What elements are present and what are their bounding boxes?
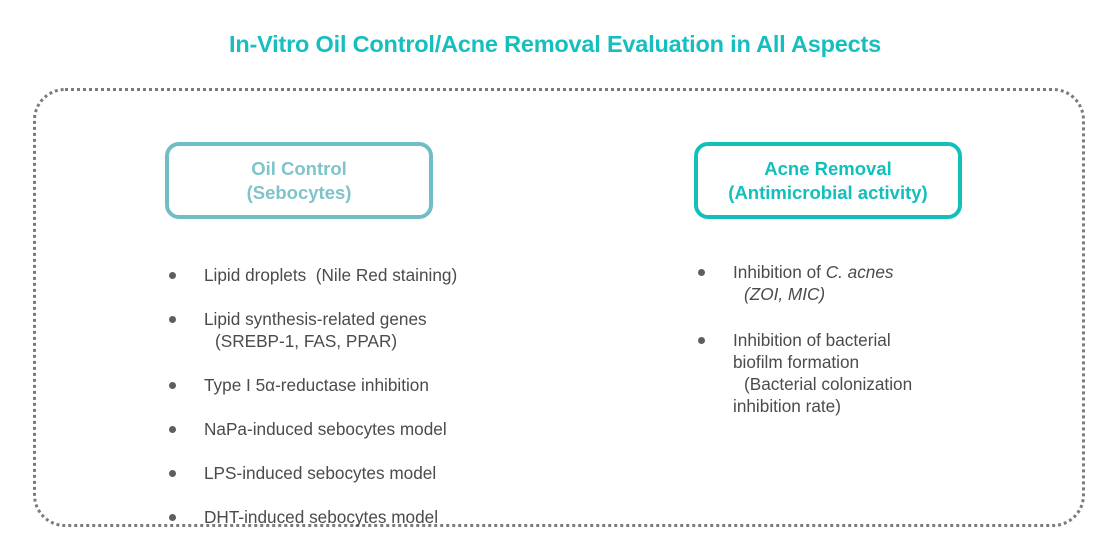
list-item: LPS-induced sebocytes model [165, 462, 495, 484]
species-name-italic: C. acnes [826, 262, 894, 282]
header-box-oil-control-text: Oil Control (Sebocytes) [247, 157, 352, 204]
list-item-line: Type I 5α-reductase inhibition [204, 374, 495, 396]
list-item-line: Inhibition of bacterial [733, 329, 1014, 351]
column-acne-removal: Acne Removal (Antimicrobial activity) In… [694, 142, 1014, 441]
list-item: NaPa-induced sebocytes model [165, 418, 495, 440]
bullet-dot-icon [169, 470, 176, 477]
list-item-line: biofilm formation [733, 351, 1014, 373]
bullet-dot-icon [169, 382, 176, 389]
list-item-line: Inhibition of C. acnes [733, 261, 1014, 283]
list-item: DHT-induced sebocytes model [165, 506, 495, 528]
bullet-dot-icon [169, 426, 176, 433]
list-item-line: (SREBP-1, FAS, PPAR) [204, 330, 495, 352]
page-title: In-Vitro Oil Control/Acne Removal Evalua… [0, 31, 1110, 58]
bullet-dot-icon [169, 316, 176, 323]
header-box-acne-removal-line1: Acne Removal [728, 157, 927, 181]
list-item: Inhibition of bacterial biofilm formatio… [694, 329, 1014, 417]
list-item-line: NaPa-induced sebocytes model [204, 418, 495, 440]
list-item: Type I 5α-reductase inhibition [165, 374, 495, 396]
header-box-acne-removal-text: Acne Removal (Antimicrobial activity) [728, 157, 927, 204]
list-item: Lipid droplets (Nile Red staining) [165, 264, 495, 286]
list-item-line: (ZOI, MIC) [733, 283, 1014, 305]
bullet-dot-icon [698, 337, 705, 344]
column-oil-control: Oil Control (Sebocytes) Lipid droplets (… [165, 142, 495, 550]
list-item-line: DHT-induced sebocytes model [204, 506, 495, 528]
list-item: Lipid synthesis-related genes (SREBP-1, … [165, 308, 495, 352]
list-item-line: inhibition rate) [733, 395, 1014, 417]
list-item-text: Inhibition of [733, 262, 826, 282]
list-item-line: Lipid synthesis-related genes [204, 308, 495, 330]
header-box-oil-control-line1: Oil Control [247, 157, 352, 181]
header-box-oil-control: Oil Control (Sebocytes) [165, 142, 433, 219]
bullet-dot-icon [698, 269, 705, 276]
bullet-dot-icon [169, 514, 176, 521]
list-item: Inhibition of C. acnes (ZOI, MIC) [694, 261, 1014, 305]
header-box-acne-removal: Acne Removal (Antimicrobial activity) [694, 142, 962, 219]
bullet-list-acne-removal: Inhibition of C. acnes (ZOI, MIC) Inhibi… [694, 261, 1014, 417]
bullet-dot-icon [169, 272, 176, 279]
bullet-list-oil-control: Lipid droplets (Nile Red staining) Lipid… [165, 264, 495, 528]
list-item-line: LPS-induced sebocytes model [204, 462, 495, 484]
header-box-oil-control-line2: (Sebocytes) [247, 181, 352, 205]
header-box-acne-removal-line2: (Antimicrobial activity) [728, 181, 927, 205]
list-item-line: (Bacterial colonization [733, 373, 1014, 395]
list-item-line: Lipid droplets (Nile Red staining) [204, 264, 495, 286]
